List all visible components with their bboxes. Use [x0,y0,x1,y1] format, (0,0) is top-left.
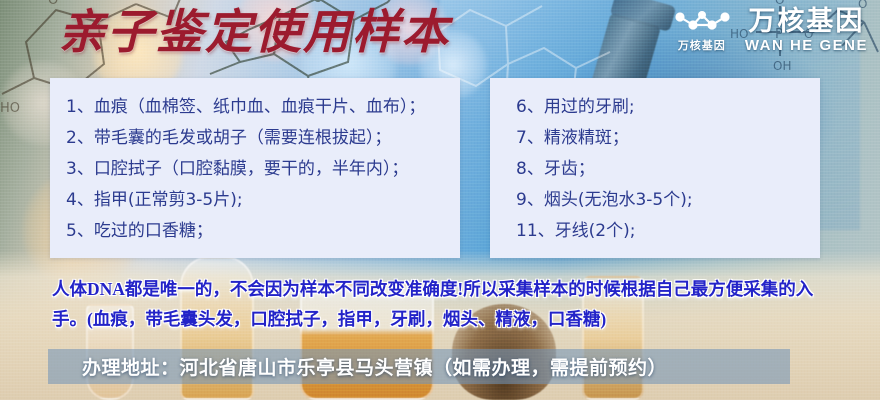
list-item: 1、血痕（血棉签、纸巾血、血痕干片、血布）； [66,92,446,123]
sample-list-right: 6、用过的牙刷; 7、精液精斑； 8、牙齿； 9、烟头(无泡水3-5个); 11… [490,78,820,247]
list-item: 11、牙线(2个); [506,216,806,247]
poster-canvas: O HO OH N O NH 2 HO P O O [0,0,880,400]
list-item: 6、用过的牙刷; [506,92,806,123]
list-item: 5、吃过的口香糖； [66,216,446,247]
brand-mark: 万核基因 [671,8,733,53]
page-title: 亲子鉴定使用样本 [58,10,450,57]
accuracy-note: 人体DNA都是唯一的，不会因为样本不同改变准确度!所以采集样本的时候根据自己最方… [52,274,842,334]
sample-list-panel-right: 6、用过的牙刷; 7、精液精斑； 8、牙齿； 9、烟头(无泡水3-5个); 11… [490,78,820,258]
brand-mark-label: 万核基因 [678,37,726,53]
list-item: 7、精液精斑； [506,123,806,154]
list-item: 4、指甲(正常剪3-5片); [66,185,446,216]
list-item: 9、烟头(无泡水3-5个); [506,185,806,216]
sample-list-panel-left: 1、血痕（血棉签、纸巾血、血痕干片、血布）； 2、带毛囊的毛发或胡子（需要连根拔… [50,78,460,258]
brand-name-cn: 万核基因 [748,8,864,35]
list-item: 3、口腔拭子（口腔黏膜，要干的，半年内）； [66,154,446,185]
sample-list-left: 1、血痕（血棉签、纸巾血、血痕干片、血布）； 2、带毛囊的毛发或胡子（需要连根拔… [50,78,460,247]
brand-name-en: WAN HE GENE [745,38,868,53]
list-item: 8、牙齿； [506,154,806,185]
brand-logo: 万核基因 万核基因 WAN HE GENE [671,8,868,53]
brand-wordmark: 万核基因 WAN HE GENE [745,8,868,53]
address-text: 办理地址：河北省唐山市乐亭县马头营镇（如需办理，需提前预约） [48,353,667,380]
address-bar: 办理地址：河北省唐山市乐亭县马头营镇（如需办理，需提前预约） [48,349,790,384]
list-item: 2、带毛囊的毛发或胡子（需要连根拔起）； [66,123,446,154]
molecule-network-icon [671,8,733,34]
